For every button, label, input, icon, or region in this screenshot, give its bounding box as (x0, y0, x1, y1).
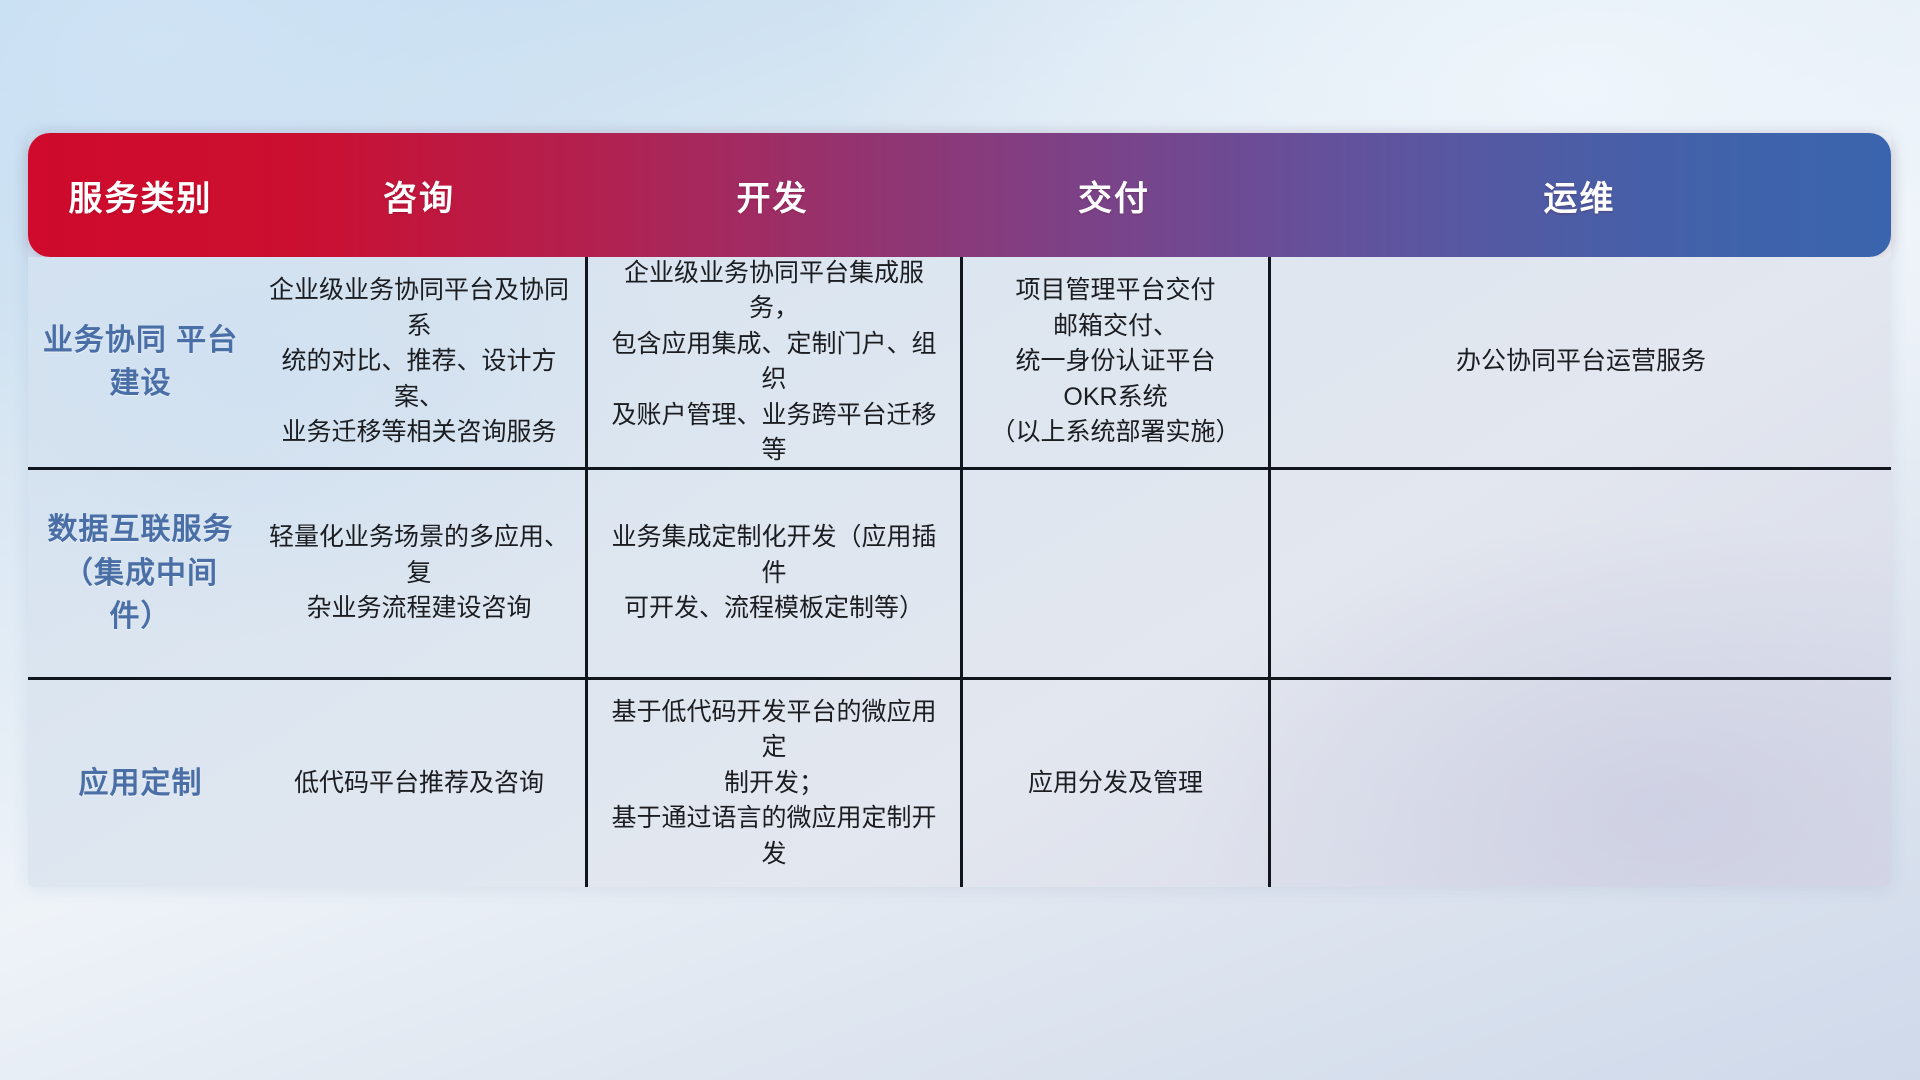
row-label-cell: 业务协同 平台建设 (28, 257, 253, 467)
column-header-operations: 运维 (1268, 171, 1891, 220)
cell-text: 轻量化业务场景的多应用、复 杂业务流程建设咨询 (267, 520, 571, 627)
cell-development: 基于低代码开发平台的微应用定 制开发； 基于通过语言的微应用定制开发 (585, 680, 960, 887)
cell-consulting: 企业级业务协同平台及协同系 统的对比、推荐、设计方案、 业务迁移等相关咨询服务 (253, 257, 585, 467)
table-row: 业务协同 平台建设 企业级业务协同平台及协同系 统的对比、推荐、设计方案、 业务… (28, 257, 1891, 467)
cell-delivery: 项目管理平台交付 邮箱交付、 统一身份认证平台 OKR系统 （以上系统部署实施） (960, 257, 1268, 467)
cell-text: 办公协同平台运营服务 (1456, 344, 1706, 380)
table-body: 业务协同 平台建设 企业级业务协同平台及协同系 统的对比、推荐、设计方案、 业务… (28, 257, 1891, 887)
service-matrix-table: 服务类别 咨询 开发 交付 运维 业务协同 平台建设 企业级业务协同平台及协同系… (28, 133, 1891, 887)
table-header-row: 服务类别 咨询 开发 交付 运维 (28, 133, 1891, 257)
cell-operations: 办公协同平台运营服务 (1268, 257, 1891, 467)
cell-text: 低代码平台推荐及咨询 (294, 766, 544, 802)
column-header-consulting: 咨询 (253, 171, 585, 220)
row-label-text: 数据互联服务 （集成中间件） (42, 508, 239, 639)
cell-delivery (960, 470, 1268, 677)
column-header-development: 开发 (585, 171, 960, 220)
cell-operations (1268, 680, 1891, 887)
cell-development: 业务集成定制化开发（应用插件 可开发、流程模板定制等） (585, 470, 960, 677)
slide-canvas: 服务类别 咨询 开发 交付 运维 业务协同 平台建设 企业级业务协同平台及协同系… (0, 0, 1920, 1080)
column-header-category: 服务类别 (28, 171, 253, 220)
cell-text: 企业级业务协同平台集成服务， 包含应用集成、定制门户、组织 及账户管理、业务跨平… (602, 256, 946, 469)
table-row: 应用定制 低代码平台推荐及咨询 基于低代码开发平台的微应用定 制开发； 基于通过… (28, 677, 1891, 887)
cell-delivery: 应用分发及管理 (960, 680, 1268, 887)
cell-text: 应用分发及管理 (1028, 766, 1203, 802)
cell-text: 项目管理平台交付 邮箱交付、 统一身份认证平台 OKR系统 （以上系统部署实施） (990, 273, 1240, 451)
table-row: 数据互联服务 （集成中间件） 轻量化业务场景的多应用、复 杂业务流程建设咨询 业… (28, 467, 1891, 677)
cell-text: 基于低代码开发平台的微应用定 制开发； 基于通过语言的微应用定制开发 (602, 695, 946, 873)
cell-development: 企业级业务协同平台集成服务， 包含应用集成、定制门户、组织 及账户管理、业务跨平… (585, 257, 960, 467)
row-label-text: 应用定制 (79, 762, 203, 806)
row-label-cell: 数据互联服务 （集成中间件） (28, 470, 253, 677)
column-header-delivery: 交付 (960, 171, 1268, 220)
row-label-cell: 应用定制 (28, 680, 253, 887)
cell-consulting: 轻量化业务场景的多应用、复 杂业务流程建设咨询 (253, 470, 585, 677)
cell-text: 企业级业务协同平台及协同系 统的对比、推荐、设计方案、 业务迁移等相关咨询服务 (267, 273, 571, 451)
row-label-text: 业务协同 平台建设 (42, 319, 239, 406)
cell-operations (1268, 470, 1891, 677)
cell-consulting: 低代码平台推荐及咨询 (253, 680, 585, 887)
cell-text: 业务集成定制化开发（应用插件 可开发、流程模板定制等） (602, 520, 946, 627)
